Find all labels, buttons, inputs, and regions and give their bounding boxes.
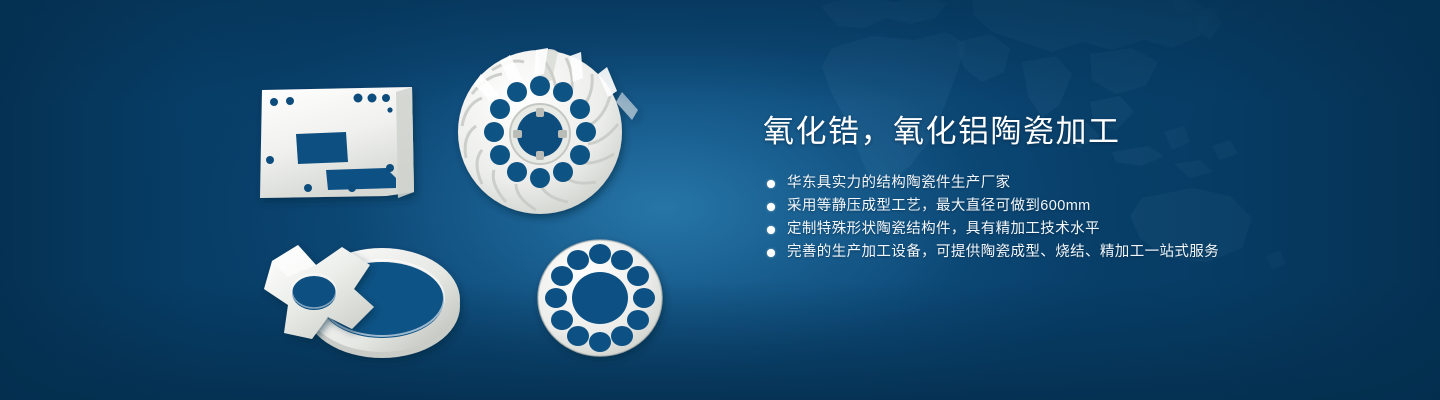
list-item: 采用等静压成型工艺，最大直径可做到600mm [763, 195, 1363, 218]
ceramic-products-image [200, 40, 740, 380]
ceramic-impeller-disc [458, 48, 638, 214]
page-title: 氧化锆，氧化铝陶瓷加工 [763, 112, 1363, 152]
list-item: 定制特殊形状陶瓷结构件，具有精加工技术水平 [763, 218, 1363, 241]
list-item: 完善的生产加工设备，可提供陶瓷成型、烧结、精加工一站式服务 [763, 241, 1363, 264]
bullet-dot-icon [767, 226, 775, 234]
list-item: 华东具实力的结构陶瓷件生产厂家 [763, 172, 1363, 195]
list-item-label: 采用等静压成型工艺，最大直径可做到600mm [787, 198, 1091, 214]
bullet-dot-icon [767, 180, 775, 188]
bullet-dot-icon [767, 203, 775, 211]
feature-list: 华东具实力的结构陶瓷件生产厂家 采用等静压成型工艺，最大直径可做到600mm 定… [763, 172, 1363, 264]
list-item-label: 完善的生产加工设备，可提供陶瓷成型、烧结、精加工一站式服务 [787, 244, 1219, 260]
bullet-dot-icon [767, 249, 775, 257]
ceramic-flat-plate [260, 87, 414, 198]
banner-copy: 氧化锆，氧化铝陶瓷加工 华东具实力的结构陶瓷件生产厂家 采用等静压成型工艺，最大… [763, 112, 1363, 264]
promo-banner: 氧化锆，氧化铝陶瓷加工 华东具实力的结构陶瓷件生产厂家 采用等静压成型工艺，最大… [0, 0, 1440, 400]
list-item-label: 华东具实力的结构陶瓷件生产厂家 [787, 175, 1011, 191]
list-item-label: 定制特殊形状陶瓷结构件，具有精加工技术水平 [787, 221, 1100, 237]
ceramic-perforated-disc [538, 240, 662, 356]
